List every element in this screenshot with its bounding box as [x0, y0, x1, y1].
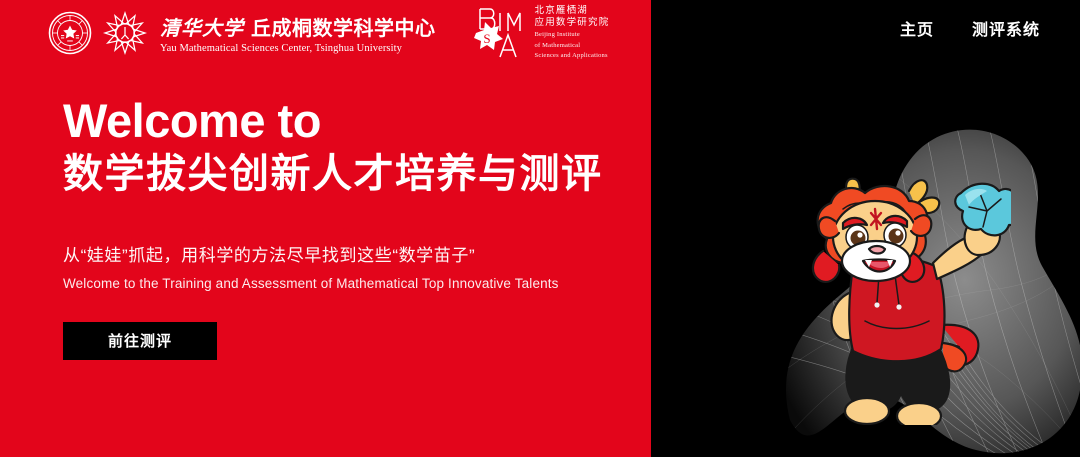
bimsa-mark-icon: S [470, 5, 528, 61]
ymsc-chinese-name: 清华大学 丘成桐数学科学中心 [160, 12, 436, 41]
nav-item-home[interactable]: 主页 [900, 16, 934, 40]
hero-title-english: Welcome to [63, 96, 623, 145]
bimsa-en-line-2: of Mathematical [535, 42, 610, 51]
ymsc-center-name: 丘成桐数学科学中心 [251, 12, 436, 41]
dragon-mascot: .o-l{stroke:#1a1a1a;stroke-width:2.2;str… [791, 175, 1011, 425]
ymsc-university-name: 清华大学 [160, 12, 244, 41]
ymsc-wordmark: 清华大学 丘成桐数学科学中心 Yau Mathematical Sciences… [160, 12, 436, 54]
bimsa-en-line-3: Sciences and Applications [535, 52, 610, 61]
ymsc-english-name: Yau Mathematical Sciences Center, Tsingh… [160, 43, 436, 54]
bimsa-cn-line-2: 应用数学研究院 [535, 17, 610, 29]
bimsa-cn-line-1: 北京雁栖湖 [535, 5, 610, 17]
right-black-panel: .o-l{stroke:#1a1a1a;stroke-width:2.2;str… [651, 0, 1080, 457]
bimsa-logo: S 北京雁栖湖 应用数学研究院 Beijing Institute of Mat… [470, 5, 610, 61]
main-navigation: 主页 测评系统 [900, 16, 1040, 40]
hero-subtitle-english: Welcome to the Training and Assessment o… [63, 276, 623, 291]
bimsa-wordmark: 北京雁栖湖 应用数学研究院 Beijing Institute of Mathe… [535, 5, 610, 61]
bimsa-en-line-1: Beijing Institute [535, 31, 610, 40]
hero-title-chinese: 数学拔尖创新人才培养与测评 [63, 151, 623, 198]
hero-subtitle-chinese: 从“娃娃”抓起，用科学的方法尽早找到这些“数学苗子” [63, 241, 623, 266]
go-to-assessment-button[interactable]: 前往测评 [63, 322, 217, 360]
wireframe-math-surface [760, 90, 1080, 457]
hero-content: Welcome to 数学拔尖创新人才培养与测评 从“娃娃”抓起，用科学的方法尽… [63, 96, 623, 360]
tsinghua-seal-icon [48, 11, 92, 55]
svg-text:S: S [483, 31, 490, 46]
nav-item-assessment-system[interactable]: 测评系统 [972, 16, 1040, 40]
header-logo-lockup: 清华大学 丘成桐数学科学中心 Yau Mathematical Sciences… [48, 6, 609, 60]
hero-banner-page: .o-l{stroke:#1a1a1a;stroke-width:2.2;str… [0, 0, 1080, 457]
ymsc-starburst-icon [102, 10, 148, 56]
